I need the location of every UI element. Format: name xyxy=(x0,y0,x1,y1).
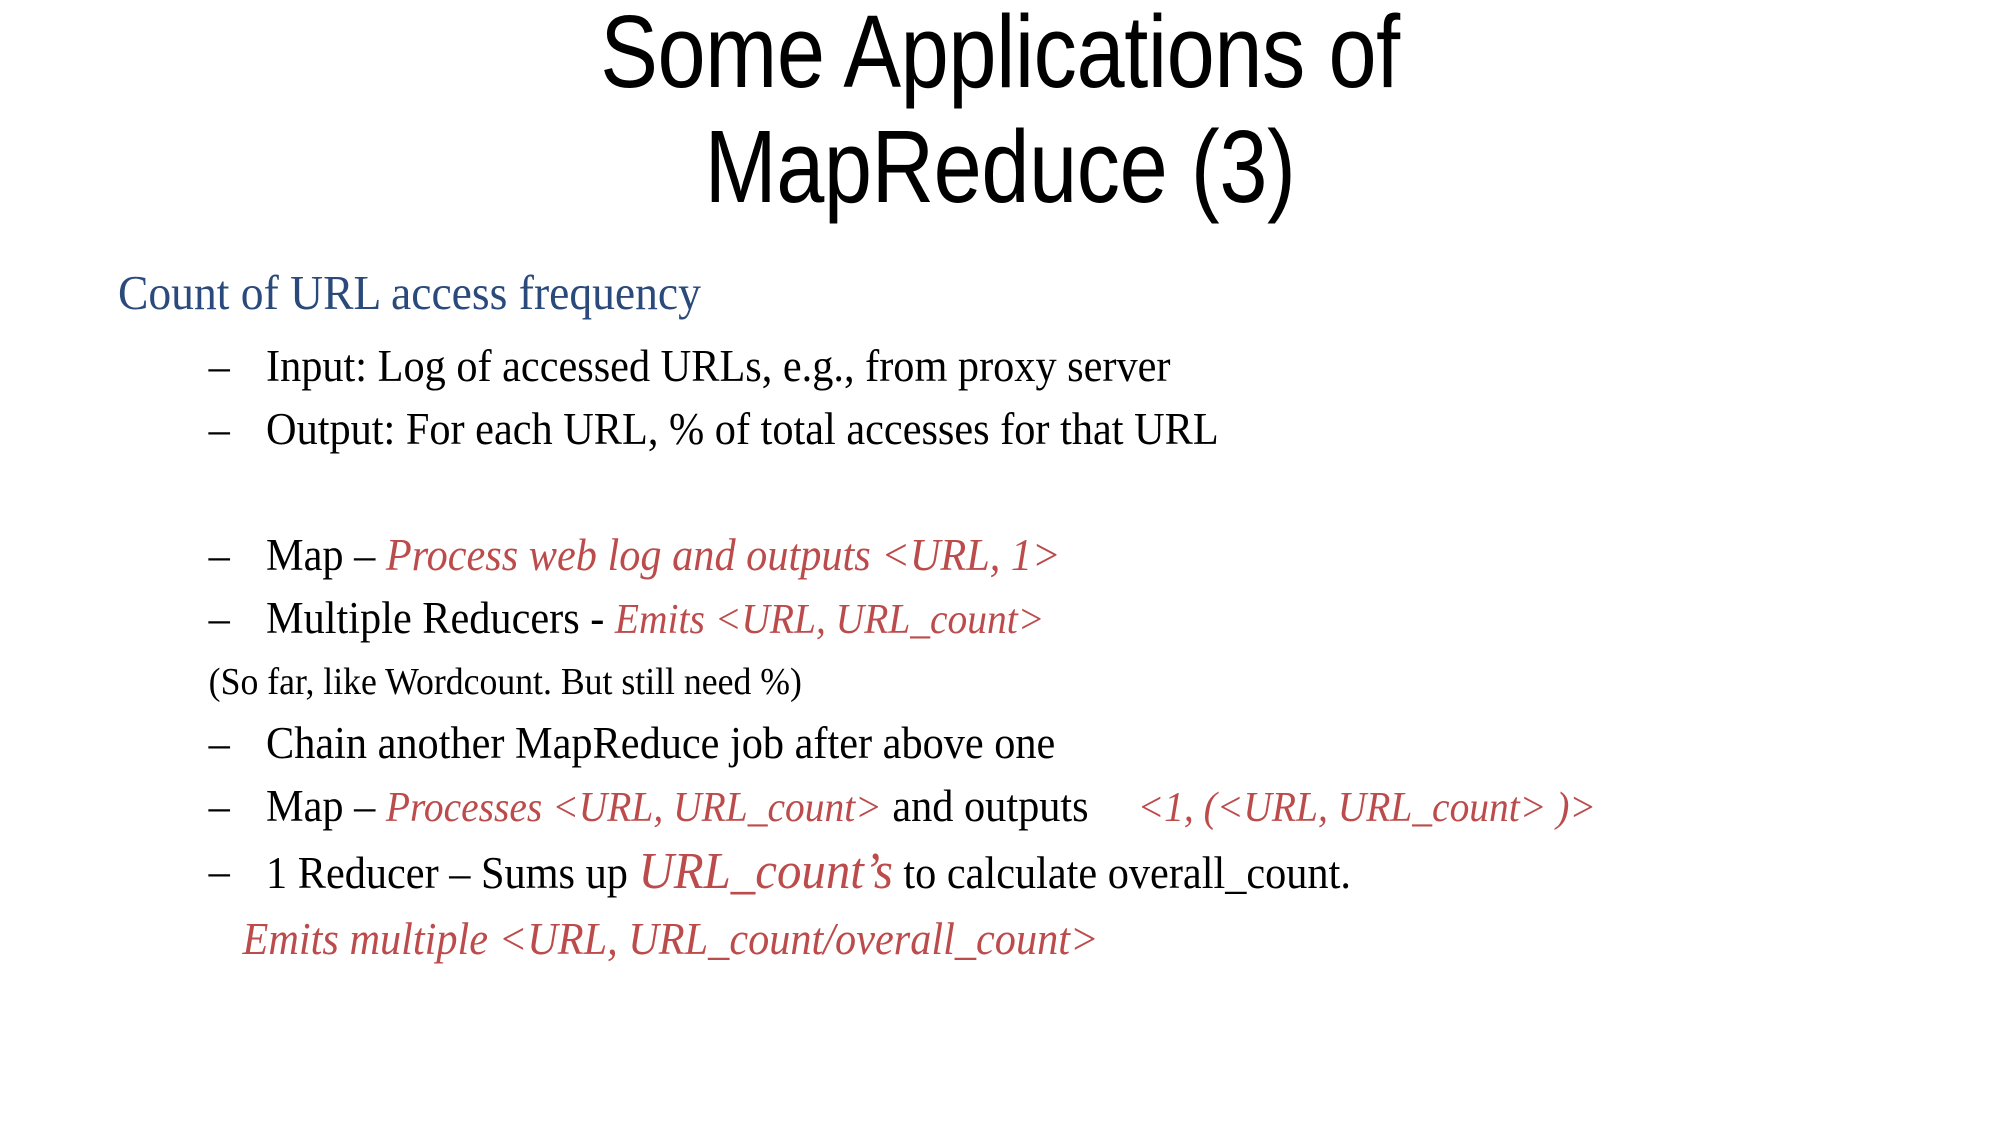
sub-line-accent-text: Emits multiple <URL, URL_count/overall_c… xyxy=(243,914,1099,964)
bullet-text-lead: Multiple Reducers - xyxy=(266,593,615,643)
dash-bullet-icon: – xyxy=(209,335,247,398)
bullet-item-input: – Input: Log of accessed URLs, e.g., fro… xyxy=(0,335,1880,398)
bullet-text: Output: For each URL, % of total accesse… xyxy=(266,404,1219,454)
dash-bullet-icon: – xyxy=(209,840,247,903)
note-so-far: (So far, like Wordcount. But still need … xyxy=(0,652,1880,712)
bullet-text: Chain another MapReduce job after above … xyxy=(266,718,1055,768)
bullet-text-mid: to calculate overall_count. xyxy=(893,848,1351,898)
bullet-item-output: – Output: For each URL, % of total acces… xyxy=(0,398,1880,461)
sub-line-emits-multiple: Emits multiple <URL, URL_count/overall_c… xyxy=(0,905,1880,973)
bullet-text-accent: Emits <URL, URL_count> xyxy=(615,597,1044,643)
bullet-text-accent-tail: <1, (<URL, URL_count> )> xyxy=(1137,785,1596,831)
dash-bullet-icon: – xyxy=(209,712,247,775)
dash-bullet-icon: – xyxy=(209,398,247,461)
bullet-item-one-reducer: – 1 Reducer – Sums up URL_count’s to cal… xyxy=(0,840,1880,905)
bullet-text-lead: Map – xyxy=(266,530,386,580)
slide-body: Count of URL access frequency – Input: L… xyxy=(0,268,2000,973)
note-text: (So far, like Wordcount. But still need … xyxy=(209,661,802,703)
page-title: Some Applications of MapReduce (3) xyxy=(160,0,1840,225)
dash-bullet-icon: – xyxy=(209,775,247,838)
slide-canvas: Some Applications of MapReduce (3) Count… xyxy=(0,0,2000,1125)
dash-bullet-icon: – xyxy=(209,524,247,587)
bullet-list: – Input: Log of accessed URLs, e.g., fro… xyxy=(0,335,2000,973)
dash-bullet-icon: – xyxy=(209,587,247,650)
section-heading: Count of URL access frequency xyxy=(118,268,1868,317)
bullet-text-mid: and outputs xyxy=(882,781,1089,831)
bullet-item-chain-job: – Chain another MapReduce job after abov… xyxy=(0,712,1880,775)
bullet-item-multiple-reducers: – Multiple Reducers - Emits <URL, URL_co… xyxy=(0,587,1880,652)
bullet-text-lead: Map – xyxy=(266,781,386,831)
bullet-text-accent: URL_count’s xyxy=(638,843,892,900)
blank-line-spacer xyxy=(0,461,2000,524)
bullet-text-accent: Process web log and outputs <URL, 1> xyxy=(386,530,1061,580)
bullet-text-lead: 1 Reducer – Sums up xyxy=(266,848,638,898)
bullet-text: Input: Log of accessed URLs, e.g., from … xyxy=(266,341,1171,391)
bullet-item-map-2: – Map – Processes <URL, URL_count> and o… xyxy=(0,775,1880,840)
bullet-item-map-1: – Map – Process web log and outputs <URL… xyxy=(0,524,1880,587)
bullet-text-accent: Processes <URL, URL_count> xyxy=(386,785,882,831)
